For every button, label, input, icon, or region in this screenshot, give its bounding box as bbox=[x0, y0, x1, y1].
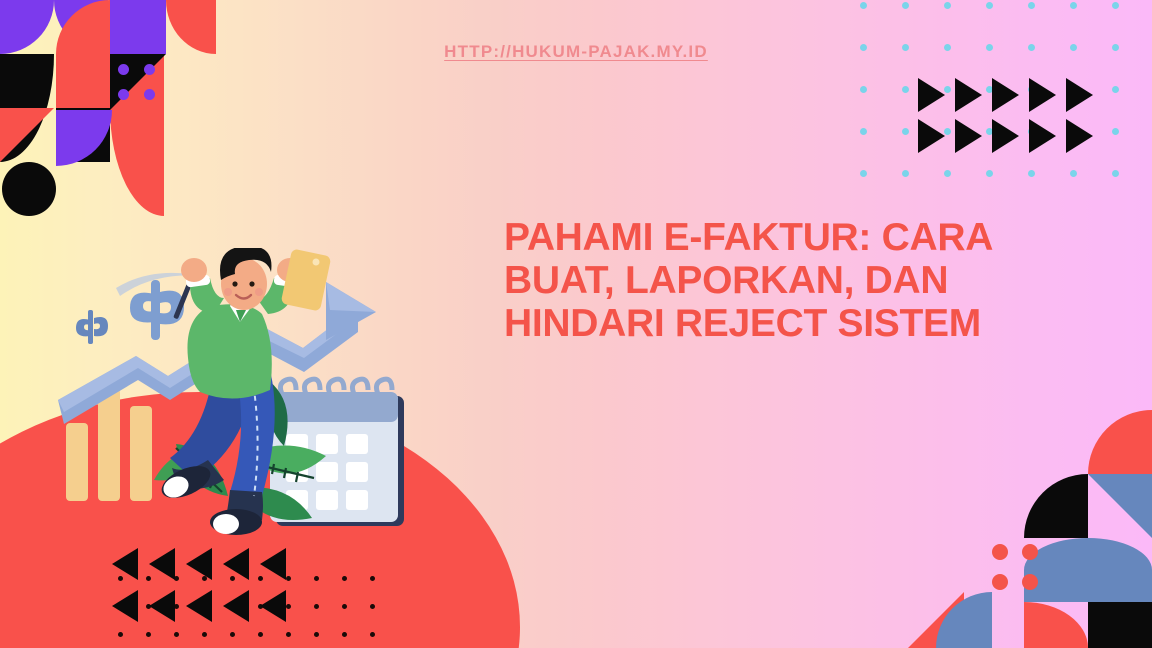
page-title-line-2: BUAT, LAPORKAN, DAN bbox=[504, 259, 1044, 302]
decor-circle-black bbox=[2, 162, 56, 216]
person-sweater bbox=[187, 304, 271, 398]
decor-triangle-left bbox=[223, 590, 249, 622]
decor-dot-cyan bbox=[986, 170, 993, 177]
decor-dot-red bbox=[992, 574, 1008, 590]
page-title: PAHAMI E-FAKTUR: CARA BUAT, LAPORKAN, DA… bbox=[504, 216, 1044, 345]
decor-dot-dark bbox=[342, 576, 347, 581]
illustration-svg bbox=[58, 248, 428, 548]
decor-triangle-left bbox=[186, 590, 212, 622]
arrow-head-highlight bbox=[326, 282, 376, 312]
decor-dot-cyan bbox=[1028, 170, 1035, 177]
bottom-right-geometric-decoration bbox=[1000, 410, 1152, 648]
tablet-camera bbox=[313, 259, 320, 266]
decor-dot-cyan bbox=[1112, 2, 1119, 9]
decor-dot-cyan bbox=[902, 86, 909, 93]
decor-triangle-left bbox=[112, 590, 138, 622]
decor-dot-cyan bbox=[1070, 2, 1077, 9]
decor-dot-dark bbox=[370, 604, 375, 609]
decor-dot-cyan bbox=[1112, 128, 1119, 135]
decor-shape-blue-dome bbox=[1024, 538, 1152, 602]
bar-chart-bar bbox=[130, 406, 152, 501]
dollar-sign-large bbox=[130, 280, 184, 340]
decor-dot-cyan bbox=[1028, 2, 1035, 9]
decor-dot-purple bbox=[144, 89, 155, 100]
person-hand-left bbox=[181, 258, 207, 282]
decor-triangle-left bbox=[112, 548, 138, 580]
poster-canvas: HTTP://HUKUM-PAJAK.MY.ID PAHAMI E-FAKTUR… bbox=[0, 0, 1152, 648]
decor-triangle-right bbox=[918, 119, 945, 153]
decor-dot-dark bbox=[118, 632, 123, 637]
decor-dot-cyan bbox=[902, 128, 909, 135]
decor-dot-cyan bbox=[860, 2, 867, 9]
decor-dot-cyan bbox=[944, 170, 951, 177]
decor-dot-cyan bbox=[902, 170, 909, 177]
decor-dot-purple bbox=[118, 64, 129, 75]
decor-dot-cyan bbox=[986, 2, 993, 9]
page-title-line-3: HINDARI REJECT SISTEM bbox=[504, 302, 1044, 345]
decor-triangle-left bbox=[223, 548, 249, 580]
decor-shape-blue-triangle bbox=[1088, 474, 1152, 538]
person-eye bbox=[232, 281, 237, 286]
decor-triangle-right bbox=[955, 119, 982, 153]
decor-triangle-right bbox=[992, 119, 1019, 153]
bottom-right-extra-shapes bbox=[908, 592, 964, 648]
decor-shape-red-quarter bbox=[110, 108, 164, 216]
decor-triangle-right bbox=[992, 78, 1019, 112]
decor-triangle-right bbox=[1066, 78, 1093, 112]
decor-dot-cyan bbox=[944, 2, 951, 9]
decor-dot-purple bbox=[144, 64, 155, 75]
decor-triangle-right bbox=[918, 78, 945, 112]
page-title-line-1: PAHAMI E-FAKTUR: CARA bbox=[504, 216, 1044, 259]
decor-shape-red-triangle bbox=[0, 108, 54, 162]
decor-dot-cyan bbox=[1112, 86, 1119, 93]
decor-dot-cyan bbox=[860, 128, 867, 135]
decor-dot-cyan bbox=[902, 2, 909, 9]
decor-shape-black-square bbox=[1088, 602, 1152, 648]
top-right-triangle-group bbox=[918, 78, 1098, 154]
decor-dot-dark bbox=[342, 632, 347, 637]
top-left-geometric-decoration bbox=[0, 0, 216, 216]
decor-dot-dark bbox=[314, 576, 319, 581]
decor-dot-red bbox=[1022, 544, 1038, 560]
person-blush bbox=[255, 288, 263, 296]
site-url-link[interactable]: HTTP://HUKUM-PAJAK.MY.ID bbox=[0, 42, 1152, 62]
decor-shape-blue-quarter bbox=[936, 592, 992, 648]
decor-dot-red bbox=[992, 544, 1008, 560]
decor-triangle-right bbox=[1066, 119, 1093, 153]
decor-dot-dark bbox=[202, 632, 207, 637]
decor-shape-red-quarter bbox=[1024, 602, 1088, 648]
decor-dot-dark bbox=[146, 632, 151, 637]
decor-triangle-left bbox=[260, 548, 286, 580]
tablet-icon bbox=[281, 248, 332, 311]
decor-dot-cyan bbox=[1112, 170, 1119, 177]
decor-dot-dark bbox=[314, 632, 319, 637]
decor-triangle-right bbox=[955, 78, 982, 112]
dollar-sign-small bbox=[76, 310, 108, 344]
decor-triangle-left bbox=[186, 548, 212, 580]
decor-dot-dark bbox=[370, 632, 375, 637]
decor-dot-dark bbox=[230, 632, 235, 637]
decor-dot-cyan bbox=[860, 86, 867, 93]
decor-dot-dark bbox=[258, 632, 263, 637]
person-blush bbox=[224, 288, 232, 296]
person-eye bbox=[249, 281, 254, 286]
bottom-left-triangle-group bbox=[112, 548, 292, 622]
hero-illustration bbox=[58, 248, 428, 548]
decor-shape-red-quarter bbox=[1088, 410, 1152, 474]
bar-chart-bar bbox=[98, 388, 120, 501]
decor-triangle-right bbox=[1029, 119, 1056, 153]
decor-dot-red bbox=[1022, 574, 1038, 590]
shoe-front-toe bbox=[213, 514, 239, 534]
decor-dot-dark bbox=[174, 632, 179, 637]
decor-dot-dark bbox=[314, 604, 319, 609]
decor-triangle-left bbox=[149, 590, 175, 622]
bar-chart-bar bbox=[66, 423, 88, 501]
decor-dot-dark bbox=[342, 604, 347, 609]
decor-dot-purple bbox=[118, 89, 129, 100]
decor-dot-dark bbox=[286, 632, 291, 637]
decor-dot-dark bbox=[370, 576, 375, 581]
decor-shape-black-quarter bbox=[1024, 474, 1088, 538]
decor-triangle-left bbox=[149, 548, 175, 580]
decor-dot-cyan bbox=[860, 170, 867, 177]
decor-triangle-right bbox=[1029, 78, 1056, 112]
decor-dot-cyan bbox=[1070, 170, 1077, 177]
decor-triangle-left bbox=[260, 590, 286, 622]
